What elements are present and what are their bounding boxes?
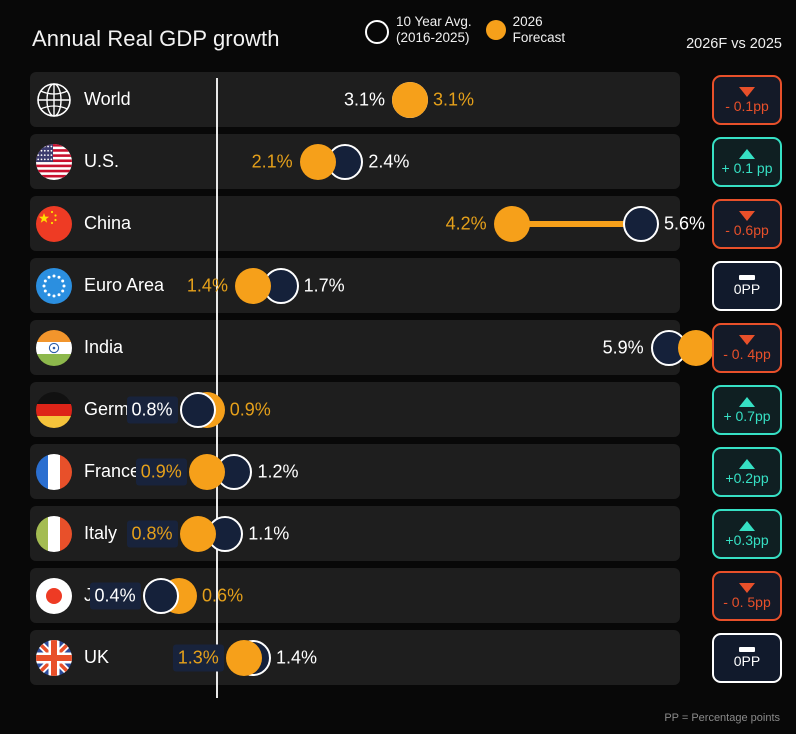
right-value-label: 3.1% xyxy=(428,86,479,113)
legend-label-forecast: 2026 Forecast xyxy=(513,14,566,46)
legend-item-average: 10 Year Avg. (2016-2025) xyxy=(365,14,472,46)
delta-value: + 0.1 pp xyxy=(722,160,773,176)
row-plot: 3.1%3.1% xyxy=(0,72,796,127)
row-plot: 4.2%5.6% xyxy=(0,196,796,251)
chart-row[interactable]: Euro Area1.4%1.7%0PP xyxy=(0,258,796,313)
delta-value: 0PP xyxy=(734,281,760,297)
forecast-dot[interactable] xyxy=(235,268,271,304)
delta-badge[interactable]: - 0. 5pp xyxy=(712,571,782,621)
chart-header: Annual Real GDP growth 10 Year Avg. (201… xyxy=(0,0,796,72)
left-value-label: 0.8% xyxy=(127,520,178,547)
left-value-label: 5.9% xyxy=(598,334,649,361)
legend-average-line1: 10 Year Avg. xyxy=(396,14,472,29)
triangle-down-icon xyxy=(739,87,755,97)
legend-average-line2: (2016-2025) xyxy=(396,30,470,45)
chart-row[interactable]: China4.2%5.6%- 0.6pp xyxy=(0,196,796,251)
average-dot[interactable] xyxy=(143,578,179,614)
dash-icon xyxy=(739,647,755,652)
forecast-dot[interactable] xyxy=(300,144,336,180)
delta-value: - 0. 4pp xyxy=(723,346,770,362)
left-value-label: 0.8% xyxy=(127,396,178,423)
forecast-dot[interactable] xyxy=(678,330,714,366)
delta-badge[interactable]: +0.2pp xyxy=(712,447,782,497)
chart-row[interactable]: France0.9%1.2%+0.2pp xyxy=(0,444,796,499)
row-plot: 1.3%1.4% xyxy=(0,630,796,685)
right-value-label: 1.4% xyxy=(271,644,322,671)
triangle-down-icon xyxy=(739,211,755,221)
delta-value: +0.2pp xyxy=(725,470,768,486)
right-value-label: 0.9% xyxy=(225,396,276,423)
left-value-label: 3.1% xyxy=(339,86,390,113)
row-plot: 1.4%1.7% xyxy=(0,258,796,313)
right-value-label: 1.1% xyxy=(243,520,294,547)
left-value-label: 2.1% xyxy=(247,148,298,175)
chart-row[interactable]: UK1.3%1.4%0PP xyxy=(0,630,796,685)
right-value-label: 1.7% xyxy=(299,272,350,299)
forecast-dot[interactable] xyxy=(392,82,428,118)
delta-badge[interactable]: +0.3pp xyxy=(712,509,782,559)
chart-row[interactable]: Japan0.4%0.6%- 0. 5pp xyxy=(0,568,796,623)
chart-body: World3.1%3.1%- 0.1ppU.S.2.1%2.4%+ 0.1 pp… xyxy=(0,72,796,702)
chart-row[interactable]: U.S.2.1%2.4%+ 0.1 pp xyxy=(0,134,796,189)
legend: 10 Year Avg. (2016-2025) 2026 Forecast xyxy=(365,14,565,46)
page-title: Annual Real GDP growth xyxy=(32,26,280,52)
delta-badge[interactable]: + 0.7pp xyxy=(712,385,782,435)
delta-value: 0PP xyxy=(734,653,760,669)
legend-forecast-line2: Forecast xyxy=(513,30,566,45)
average-dot[interactable] xyxy=(623,206,659,242)
row-plot: 0.4%0.6% xyxy=(0,568,796,623)
triangle-up-icon xyxy=(739,459,755,469)
triangle-down-icon xyxy=(739,335,755,345)
forecast-dot[interactable] xyxy=(189,454,225,490)
chart-row[interactable]: India5.9%6.2%- 0. 4pp xyxy=(0,320,796,375)
triangle-down-icon xyxy=(739,583,755,593)
left-value-label: 4.2% xyxy=(441,210,492,237)
delta-value: - 0.1pp xyxy=(725,98,769,114)
right-value-label: 5.6% xyxy=(659,210,710,237)
delta-badge[interactable]: - 0. 4pp xyxy=(712,323,782,373)
footnote: PP = Percentage points xyxy=(664,712,780,724)
average-dot[interactable] xyxy=(180,392,216,428)
triangle-up-icon xyxy=(739,521,755,531)
left-value-label: 1.4% xyxy=(182,272,233,299)
delta-badge[interactable]: + 0.1 pp xyxy=(712,137,782,187)
left-value-label: 0.9% xyxy=(136,458,187,485)
forecast-dot[interactable] xyxy=(494,206,530,242)
value-connector xyxy=(512,221,641,227)
delta-column-header: 2026F vs 2025 xyxy=(686,36,782,52)
right-value-label: 1.2% xyxy=(252,458,303,485)
delta-badge[interactable]: 0PP xyxy=(712,261,782,311)
triangle-up-icon xyxy=(739,149,755,159)
right-value-label: 0.6% xyxy=(197,582,248,609)
hollow-circle-icon xyxy=(365,20,389,44)
delta-badge[interactable]: - 0.6pp xyxy=(712,199,782,249)
left-value-label: 0.4% xyxy=(90,582,141,609)
delta-value: +0.3pp xyxy=(725,532,768,548)
chart-row[interactable]: Germany0.8%0.9%+ 0.7pp xyxy=(0,382,796,437)
delta-badge[interactable]: 0PP xyxy=(712,633,782,683)
legend-label-average: 10 Year Avg. (2016-2025) xyxy=(396,14,472,46)
forecast-dot[interactable] xyxy=(226,640,262,676)
orange-dot-icon xyxy=(486,20,506,40)
delta-value: - 0.6pp xyxy=(725,222,769,238)
delta-badge[interactable]: - 0.1pp xyxy=(712,75,782,125)
left-value-label: 1.3% xyxy=(173,644,224,671)
row-plot: 2.1%2.4% xyxy=(0,134,796,189)
forecast-dot[interactable] xyxy=(180,516,216,552)
legend-item-forecast: 2026 Forecast xyxy=(486,14,566,46)
delta-value: + 0.7pp xyxy=(723,408,770,424)
row-plot: 0.8%1.1% xyxy=(0,506,796,561)
chart-row[interactable]: Italy0.8%1.1%+0.3pp xyxy=(0,506,796,561)
delta-value: - 0. 5pp xyxy=(723,594,770,610)
row-plot: 5.9%6.2% xyxy=(0,320,796,375)
row-plot: 0.8%0.9% xyxy=(0,382,796,437)
chart-row[interactable]: World3.1%3.1%- 0.1pp xyxy=(0,72,796,127)
triangle-up-icon xyxy=(739,397,755,407)
legend-forecast-line1: 2026 xyxy=(513,14,543,29)
dash-icon xyxy=(739,275,755,280)
row-plot: 0.9%1.2% xyxy=(0,444,796,499)
right-value-label: 2.4% xyxy=(363,148,414,175)
